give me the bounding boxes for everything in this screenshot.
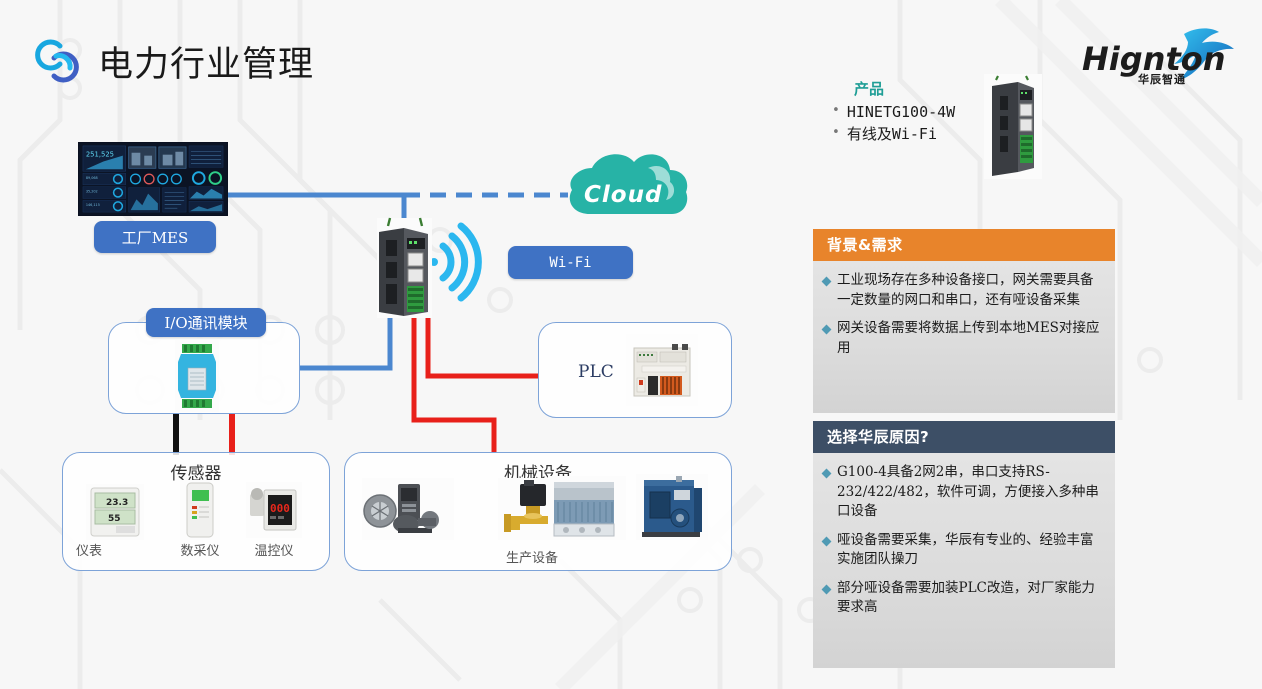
panel-bullet-text: 网关设备需要将数据上传到本地MES对接应用 (837, 319, 1105, 358)
panel-bullet: 部分哑设备需要加装PLC改造，对厂家能力要求高 (823, 579, 1105, 618)
mes-label: 工厂MES (122, 227, 189, 248)
panel-bullet-text: G100-4具备2网2串，串口支持RS-232/422/482，软件可调，方便接… (837, 463, 1105, 522)
link-gateway-to-io (300, 312, 390, 368)
hignton-brand-logo: Hignton 华辰智通 (1076, 22, 1246, 92)
product-item-label: HINETG100-4W (847, 102, 955, 124)
panel-bullet: G100-4具备2网2串，串口支持RS-232/422/482，软件可调，方便接… (823, 463, 1105, 522)
gateway-product-photo (984, 74, 1042, 179)
panel-bullet: 网关设备需要将数据上传到本地MES对接应用 (823, 319, 1105, 358)
product-title: 产品 (854, 78, 955, 99)
cloud-icon (570, 154, 687, 214)
mes-label-pill[interactable]: 工厂MES (94, 221, 216, 253)
svg-text:23.3: 23.3 (106, 498, 128, 508)
panel-bullet: 哑设备需要采集，华辰有专业的、经验丰富实施团队操刀 (823, 531, 1105, 570)
page-header: 电力行业管理 Hignton 华辰智通 (0, 0, 1262, 115)
panel-bullet-text: 哑设备需要采集，华辰有专业的、经验丰富实施团队操刀 (837, 531, 1105, 570)
diamond-bullet-icon (822, 469, 832, 479)
product-item: • HINETG100-4W (832, 102, 955, 124)
svg-text:华辰智通: 华辰智通 (1138, 72, 1186, 86)
diamond-bullet-icon (822, 325, 832, 335)
panel-bullet-text: 工业现场存在多种设备接口，网关需要具备一定数量的网口和串口，还有哑设备采集 (837, 271, 1105, 310)
wifi-label-pill[interactable]: Wi-Fi (508, 246, 633, 279)
chiller-unit-photo (548, 476, 626, 540)
product-item-label: 有线及Wi-Fi (847, 124, 937, 146)
interlocking-circles-icon (30, 36, 84, 86)
panel-bullet-text: 部分哑设备需要加装PLC改造，对厂家能力要求高 (837, 579, 1105, 618)
meter-device-photo: 23.3 55 (86, 484, 144, 540)
diamond-bullet-icon (822, 277, 832, 287)
panel-body: 工业现场存在多种设备接口，网关需要具备一定数量的网口和串口，还有哑设备采集 网关… (813, 261, 1115, 413)
panel-body: G100-4具备2网2串，串口支持RS-232/422/482，软件可调，方便接… (813, 453, 1115, 668)
data-logger-photo (180, 480, 220, 540)
link-gateway-to-plc (428, 312, 538, 376)
panel-bullet: 工业现场存在多种设备接口，网关需要具备一定数量的网口和串口，还有哑设备采集 (823, 271, 1105, 310)
wifi-signal-icon (430, 226, 478, 298)
svg-text:000: 000 (270, 502, 290, 515)
io-module-photo (175, 340, 219, 412)
sensor-device-caption: 仪表 (76, 540, 122, 559)
svg-text:55: 55 (108, 514, 121, 524)
product-block: 产品 • HINETG100-4W • 有线及Wi-Fi (828, 78, 955, 146)
wifi-label: Wi-Fi (549, 255, 591, 271)
io-module-label-pill[interactable]: I/O通讯模块 (146, 308, 266, 337)
machinery-caption: 生产设备 (470, 547, 594, 566)
pump-and-drive-photo (362, 478, 454, 540)
bullet-dot-icon: • (832, 102, 840, 121)
product-item: • 有线及Wi-Fi (832, 124, 955, 146)
temperature-controller-photo: 000 (246, 482, 302, 538)
diamond-bullet-icon (822, 536, 832, 546)
bullet-dot-icon: • (832, 124, 840, 143)
panel-background-requirements: 背景&需求 工业现场存在多种设备接口，网关需要具备一定数量的网口和串口，还有哑设… (813, 229, 1115, 413)
boiler-unit-photo (636, 474, 708, 540)
panel-heading: 选择华辰原因? (813, 421, 1115, 453)
sensor-device-caption: 温控仪 (244, 540, 304, 559)
io-module-label: I/O通讯模块 (164, 312, 247, 333)
diamond-bullet-icon (822, 584, 832, 594)
plc-label: PLC (578, 362, 614, 382)
sensor-device-caption: 数采仪 (168, 540, 232, 559)
industrial-gateway-icon (377, 218, 432, 318)
panel-heading: 背景&需求 (813, 229, 1115, 261)
page-title: 电力行业管理 (98, 36, 314, 87)
panel-why-huachen: 选择华辰原因? G100-4具备2网2串，串口支持RS-232/422/482，… (813, 421, 1115, 668)
plc-device-photo (626, 334, 698, 406)
